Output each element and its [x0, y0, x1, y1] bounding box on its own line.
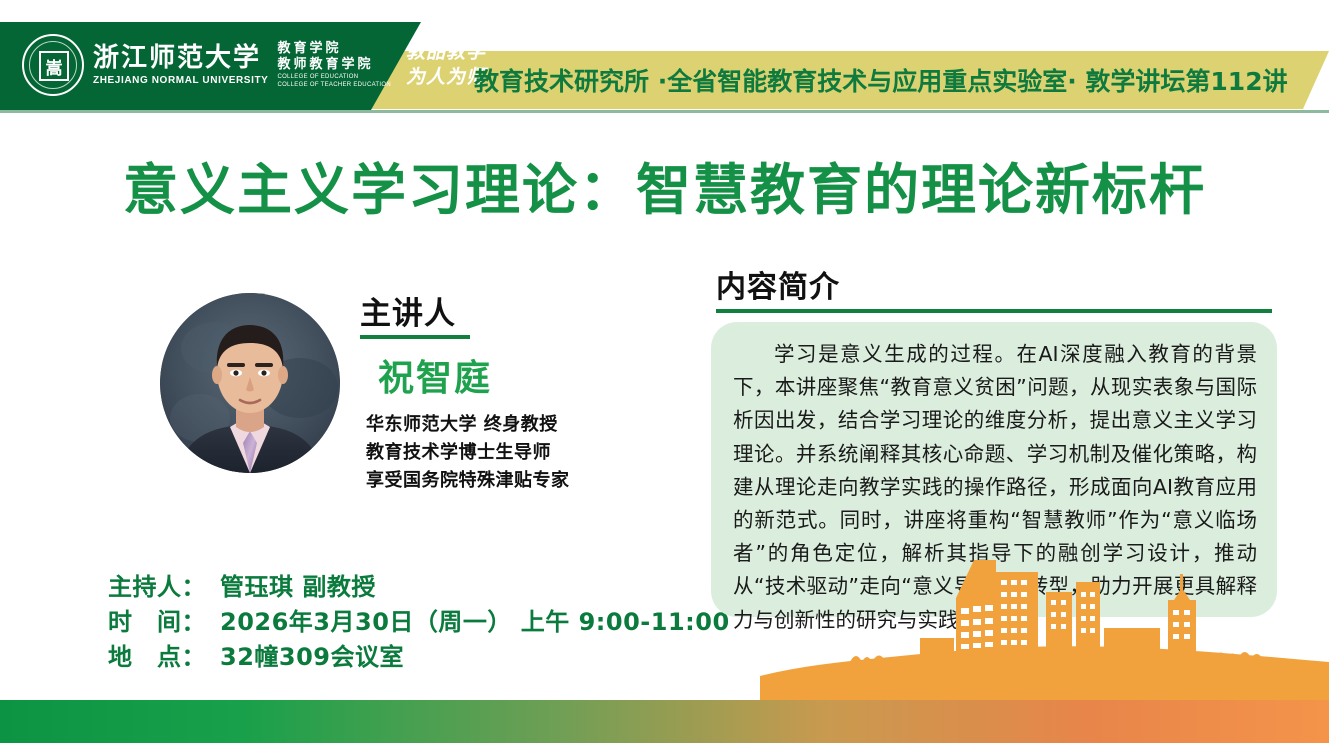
- bottom-gradient-bar: [0, 700, 1329, 743]
- seal-character: 嵩: [39, 51, 69, 81]
- banner-subtitle: 教育技术研究所 ·全省智能教育技术与应用重点实验室· 敦学讲坛第112讲: [474, 62, 1288, 98]
- detail-value-location: 32幢309会议室: [220, 640, 404, 675]
- content-heading-underline: [716, 309, 1272, 313]
- university-name-en: ZHEJIANG NORMAL UNIVERSITY: [93, 75, 268, 86]
- college-name-block: 教育学院 教师教育学院 COLLEGE OF EDUCATION COLLEGE…: [277, 41, 391, 90]
- speaker-name: 祝智庭: [378, 349, 680, 401]
- content-heading-group: 内容简介: [716, 262, 1272, 313]
- event-details: 主持人： 管珏琪 副教授 时 间： 2026年3月30日（周一） 上午 9:00…: [108, 570, 730, 674]
- speaker-info: 主讲人 祝智庭 华东师范大学 终身教授 教育技术学博士生导师 享受国务院特殊津贴…: [360, 288, 680, 495]
- detail-label-host: 主持人：: [108, 570, 220, 605]
- speaker-credentials: 华东师范大学 终身教授 教育技术学博士生导师 享受国务院特殊津贴专家: [366, 411, 680, 495]
- banner-divider-line: [0, 110, 1329, 113]
- detail-row-location: 地 点： 32幢309会议室: [108, 640, 730, 675]
- page-title: 意义主义学习理论：智慧教育的理论新标杆: [0, 145, 1329, 225]
- detail-row-time: 时 间： 2026年3月30日（周一） 上午 9:00-11:00: [108, 605, 730, 640]
- university-logo: 嵩 浙江师范大学 ZHEJIANG NORMAL UNIVERSITY 教育学院…: [22, 34, 486, 96]
- credential-line: 华东师范大学 终身教授: [366, 411, 680, 439]
- campus-skyline-icon: [760, 550, 1329, 700]
- content-heading: 内容简介: [716, 262, 1272, 306]
- speaker-section-label: 主讲人: [360, 288, 456, 333]
- college-name-cn-2: 教师教育学院: [277, 57, 391, 73]
- detail-value-time: 2026年3月30日（周一） 上午 9:00-11:00: [220, 605, 730, 640]
- university-name-cn: 浙江师范大学: [93, 45, 268, 71]
- speaker-avatar: [160, 293, 340, 473]
- detail-label-location: 地 点：: [108, 640, 220, 675]
- university-name-block: 浙江师范大学 ZHEJIANG NORMAL UNIVERSITY: [93, 45, 268, 86]
- university-seal-icon: 嵩: [22, 34, 84, 96]
- detail-value-host: 管珏琪 副教授: [220, 570, 376, 605]
- speaker-underline: [360, 335, 470, 339]
- college-name-cn-1: 教育学院: [277, 41, 391, 57]
- college-name-en-1: COLLEGE OF EDUCATION: [277, 73, 391, 81]
- header-banner: 嵩 浙江师范大学 ZHEJIANG NORMAL UNIVERSITY 教育学院…: [0, 0, 1329, 130]
- credential-line: 享受国务院特殊津贴专家: [366, 467, 680, 495]
- credential-line: 教育技术学博士生导师: [366, 439, 680, 467]
- poster-canvas: 嵩 浙江师范大学 ZHEJIANG NORMAL UNIVERSITY 教育学院…: [0, 0, 1329, 743]
- college-name-en-2: COLLEGE OF TEACHER EDUCATION: [277, 81, 391, 89]
- detail-row-host: 主持人： 管珏琪 副教授: [108, 570, 730, 605]
- detail-label-time: 时 间：: [108, 605, 220, 640]
